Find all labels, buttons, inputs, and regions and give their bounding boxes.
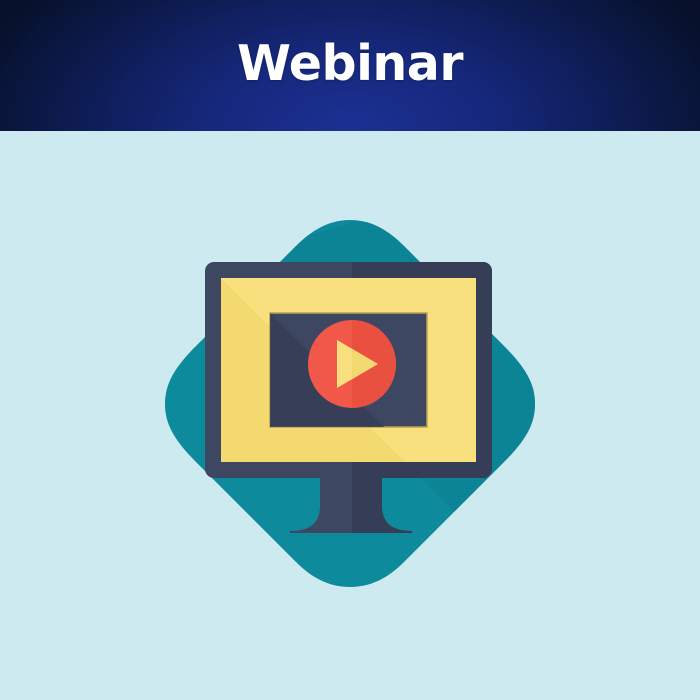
page-title: Webinar (0, 0, 700, 131)
webinar-card: Webinar (0, 0, 700, 700)
illustration-area (0, 131, 700, 700)
header-banner: Webinar (0, 0, 700, 131)
webinar-illustration (0, 131, 700, 700)
